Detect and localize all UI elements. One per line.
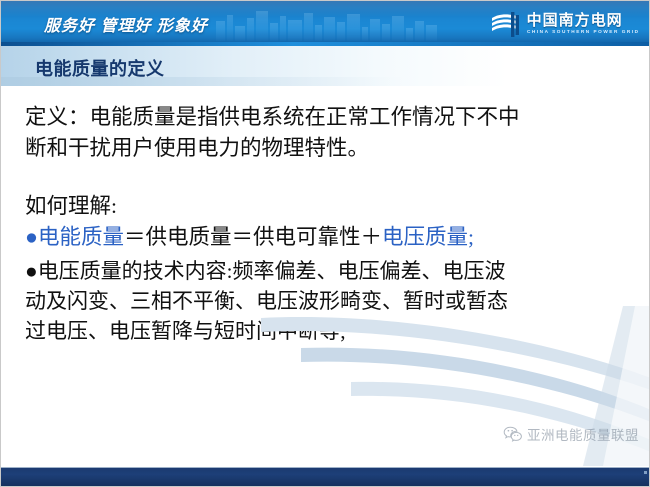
slide-content: 定义：电能质量是指供电系统在正常工作情况下不中 断和干扰用户使用电力的物理特性。… [1,86,650,466]
logo-company-name-cn: 中国南方电网 [527,13,637,28]
slide-title-bar: 电能质量的定义 [1,46,650,86]
bullet-2-text-line-1: 电压质量的技术内容:频率偏差、电压偏差、电压波 [38,259,506,283]
slide-body-text: 定义：电能质量是指供电系统在正常工作情况下不中 断和干扰用户使用电力的物理特性。… [25,102,633,346]
slide-header-banner: 服务好 管理好 形象好 中国南方电网 CHINA SOUTHERN POWER … [1,1,650,46]
bullet-1-segment-blue-2: 电压质量; [382,225,474,249]
bullet-1-segment-black: ＝供电质量＝供电可靠性＋ [124,225,382,249]
slide-bottom-bar [1,467,650,486]
bullet-marker-2: ● [25,259,38,283]
bullet-1-segment-blue-1: 电能质量 [38,225,124,249]
wechat-icon [503,426,522,442]
logo-company-name-en: CHINA SOUTHERN POWER GRID [527,30,640,35]
company-logo: 中国南方电网 CHINA SOUTHERN POWER GRID [491,8,637,40]
bullet-item-2-line-3: 过电压、电压暂降与短时间中断等; [25,316,633,346]
power-grid-logo-icon [491,11,521,38]
definition-line-2: 断和干扰用户使用电力的物理特性。 [25,133,633,164]
page-title: 电能质量的定义 [35,55,165,81]
watermark-label: 亚洲电能质量联盟 [527,424,639,444]
definition-line-1: 定义：电能质量是指供电系统在正常工作情况下不中 [25,102,633,133]
logo-text-block: 中国南方电网 CHINA SOUTHERN POWER GRID [527,13,637,35]
bullet-item-1: ●电能质量＝供电质量＝供电可靠性＋电压质量; [25,222,633,253]
footer-watermark: 亚洲电能质量联盟 [503,424,639,444]
bottom-bar-tick [644,471,647,474]
bullet-marker-1: ● [25,225,38,249]
header-slogan: 服务好 管理好 形象好 [44,12,208,36]
bullet-item-2-line-1: ●电压质量的技术内容:频率偏差、电压偏差、电压波 [25,256,633,286]
bullet-item-2-line-2: 动及闪变、三相不平衡、电压波形畸变、暂时或暂态 [25,286,633,316]
presentation-slide: 服务好 管理好 形象好 中国南方电网 CHINA SOUTHERN POWER … [0,0,650,487]
paragraph-spacer [25,164,633,191]
how-to-understand-heading: 如何理解: [25,191,633,222]
